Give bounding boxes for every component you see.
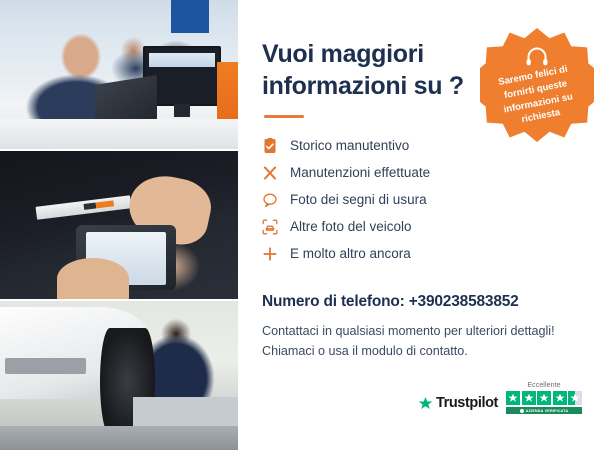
speech-bubble-icon	[262, 192, 278, 208]
title-divider	[264, 115, 304, 118]
car-frame-icon	[262, 219, 278, 235]
list-item-label: Storico manutentivo	[290, 138, 409, 153]
wall-sign	[171, 0, 209, 33]
headset-icon	[525, 47, 549, 67]
list-item-label: Altre foto del veicolo	[290, 219, 412, 234]
rating-label: Eccellente	[527, 382, 560, 389]
verified-label: AZIENDA VERIFICATA	[526, 409, 569, 413]
verified-badge: AZIENDA VERIFICATA	[506, 407, 582, 414]
promo-banner: Vuoi maggiori informazioni su ? Storico …	[0, 0, 600, 450]
workbench	[133, 397, 238, 430]
list-item-label: Manutenzioni effettuate	[290, 165, 430, 180]
verified-check-icon	[520, 409, 524, 413]
vehicle-inspection-photo	[0, 151, 238, 300]
star-4	[553, 391, 567, 405]
list-item: Altre foto del veicolo	[262, 213, 578, 240]
star-1	[506, 391, 520, 405]
trustpilot-logo: Trustpilot	[418, 395, 498, 414]
lift-platform	[0, 426, 238, 450]
feature-list: Storico manutentivo Manutenzioni effettu…	[262, 132, 578, 267]
measuring-strip	[35, 195, 131, 220]
list-item: E molto altro ancora	[262, 240, 578, 267]
list-item-label: E molto altro ancora	[290, 246, 411, 261]
trustpilot-star-icon	[418, 396, 433, 411]
list-item: Manutenzioni effettuate	[262, 159, 578, 186]
trustpilot-widget[interactable]: Trustpilot Eccellente AZIENDA VERIFICATA	[418, 382, 582, 414]
hand-holding-tablet	[57, 258, 128, 300]
trustpilot-rating-block: Eccellente AZIENDA VERIFICATA	[506, 382, 582, 414]
workshop-lift-photo	[0, 301, 238, 450]
rating-stars	[506, 391, 582, 405]
list-item: Foto dei segni di usura	[262, 186, 578, 213]
plus-icon	[262, 246, 278, 262]
star-2	[522, 391, 536, 405]
checklist-icon	[262, 138, 278, 154]
list-item-label: Foto dei segni di usura	[290, 192, 427, 207]
phone-number[interactable]: Numero di telefono: +390238583852	[262, 293, 578, 311]
tools-cross-icon	[262, 165, 278, 181]
photo-column	[0, 0, 238, 450]
contact-line-2: Chiamaci o usa il modulo di contatto.	[262, 342, 578, 362]
star-5	[568, 391, 582, 405]
call-center-photo	[0, 0, 238, 149]
car-grille	[5, 358, 86, 374]
monitor-stand	[174, 104, 191, 117]
trustpilot-wordmark: Trustpilot	[436, 395, 498, 411]
star-3	[537, 391, 551, 405]
callout-badge: Saremo felici di fornirti queste informa…	[480, 28, 594, 142]
contact-text: Contattaci in qualsiasi momento per ulte…	[262, 322, 578, 361]
info-panel: Vuoi maggiori informazioni su ? Storico …	[238, 0, 600, 450]
contact-line-1: Contattaci in qualsiasi momento per ulte…	[262, 322, 578, 342]
desk	[0, 119, 238, 149]
